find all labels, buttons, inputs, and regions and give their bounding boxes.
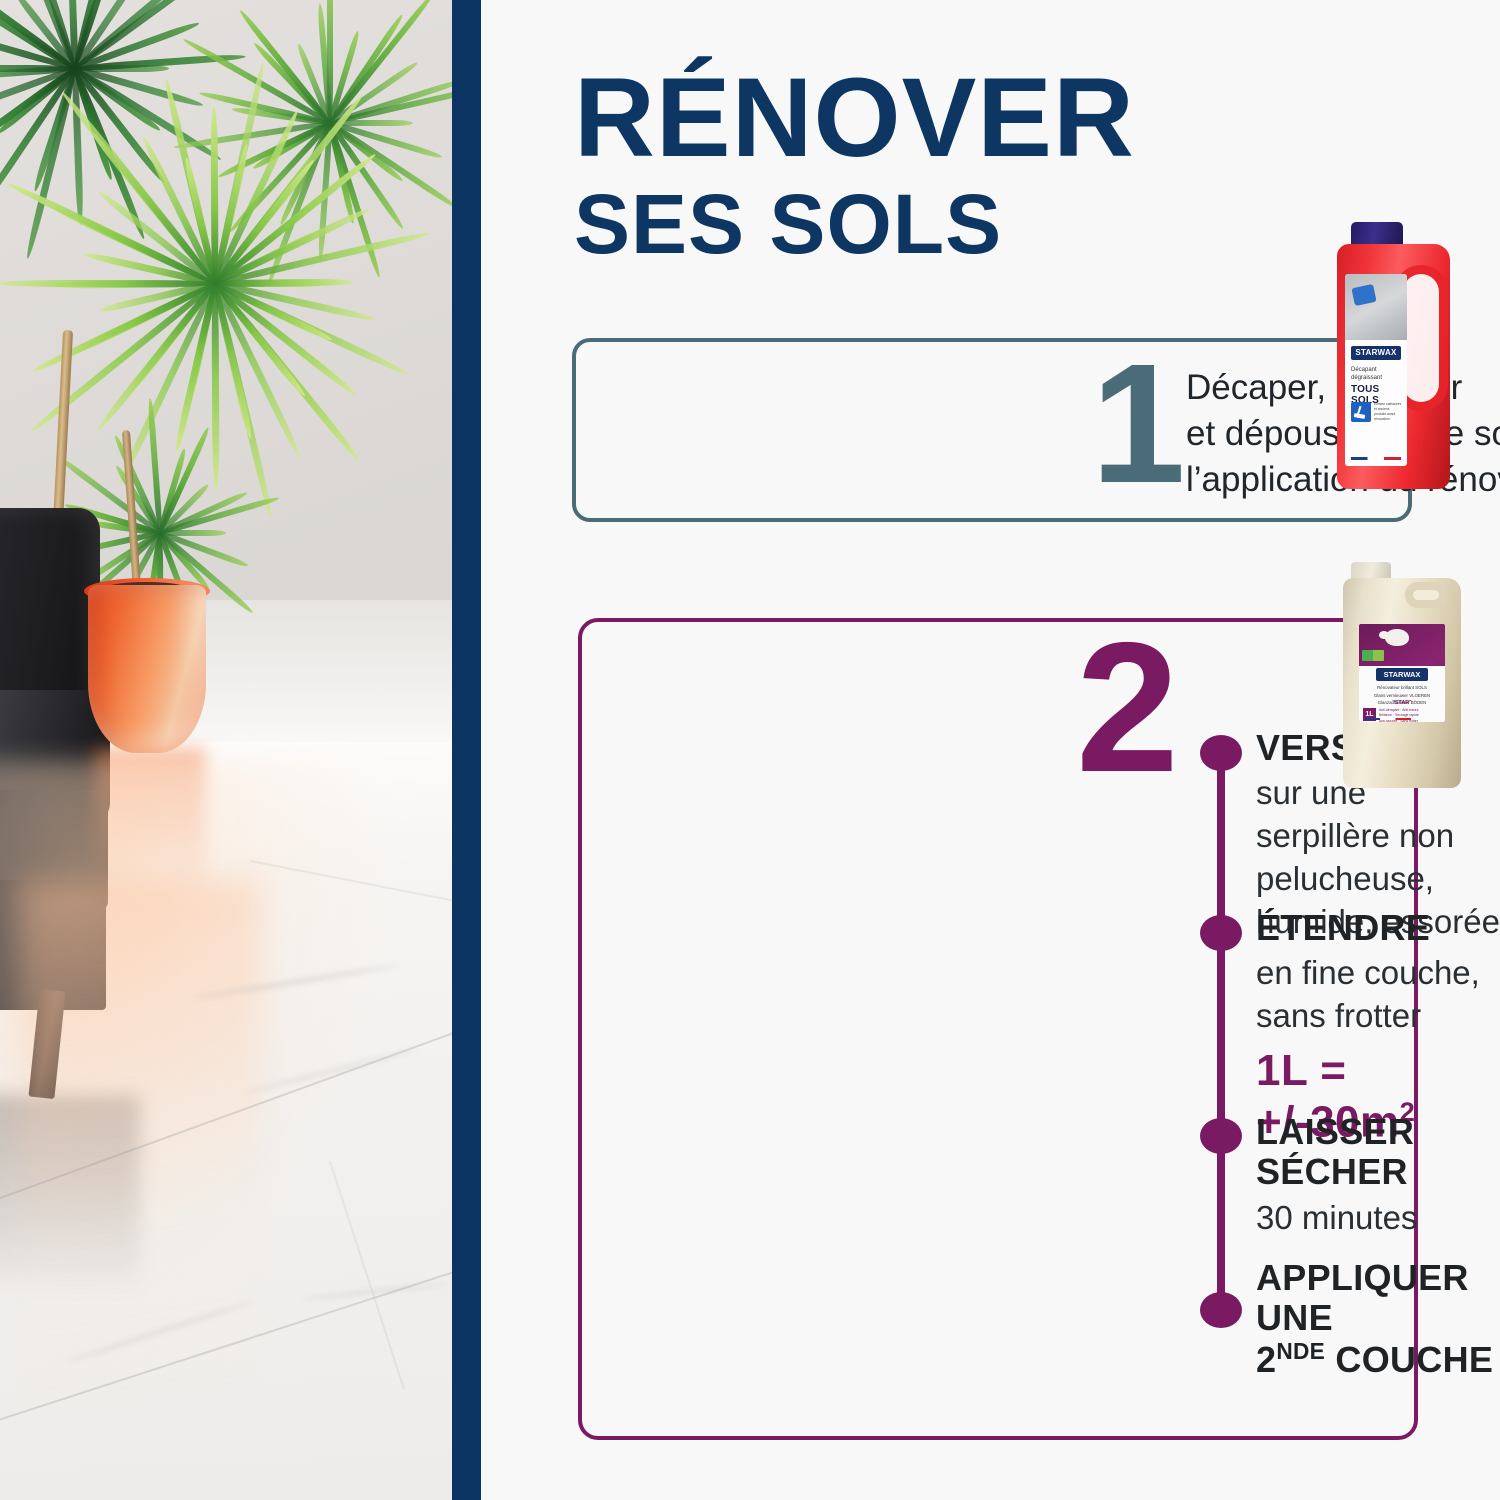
step-1-number: 1 bbox=[1091, 358, 1151, 503]
interior-photo bbox=[0, 0, 452, 1500]
timeline-dot-laisser-secher bbox=[1200, 1118, 1242, 1154]
product-bottle-renovateur: STARWAX Rénovateur brillant SOLS Glans v… bbox=[1343, 562, 1461, 788]
product-bottle-decapant: STARWAX Décapantdégraissant TOUS SOLS Él… bbox=[1333, 222, 1455, 489]
timeline-dot-appliquer bbox=[1200, 1292, 1242, 1328]
product-range-star: "STAR" bbox=[1365, 700, 1439, 706]
terracotta-flower-pot bbox=[88, 585, 206, 753]
label-white-area: STARWAX Rénovateur brillant SOLS Glans v… bbox=[1359, 666, 1445, 722]
product-descriptor: Décapantdégraissant bbox=[1351, 366, 1382, 382]
timeline-line bbox=[1217, 752, 1225, 1310]
second-coat-ordinal-suffix: NDE bbox=[1276, 1338, 1325, 1364]
step-item-appliquer-heading-line2: 2NDE COUCHE bbox=[1256, 1339, 1500, 1380]
step-item-appliquer: APPLIQUER UNE 2NDE COUCHE bbox=[1256, 1258, 1500, 1380]
second-coat-number: 2 bbox=[1256, 1339, 1276, 1380]
title-line-1: RÉNOVER bbox=[574, 62, 1135, 174]
mop-icon bbox=[1351, 284, 1376, 306]
polar-bear-icon bbox=[1385, 629, 1409, 646]
product-descriptor-line1: Décapant bbox=[1351, 367, 1377, 373]
mop-pictogram-icon bbox=[1351, 402, 1371, 422]
page-title: RÉNOVER SES SOLS bbox=[574, 62, 1135, 268]
plant-leaf bbox=[5, 180, 216, 287]
timeline-dot-verser bbox=[1200, 735, 1242, 771]
bottle-handle bbox=[1403, 274, 1439, 402]
jerrycan-label: STARWAX Rénovateur brillant SOLS Glans v… bbox=[1359, 624, 1445, 722]
plant-leaf bbox=[215, 279, 353, 287]
title-line-2: SES SOLS bbox=[574, 180, 1135, 268]
french-flag-stripe bbox=[1365, 718, 1411, 721]
step-item-laisser-secher-heading: LAISSER SÉCHER bbox=[1256, 1112, 1500, 1193]
french-flag-stripe bbox=[1351, 457, 1401, 460]
eco-badge-icon bbox=[1362, 650, 1384, 661]
floor-light-sheen-secondary bbox=[20, 880, 260, 1500]
step-item-etendre-sub: en fine couche, sans frotter bbox=[1256, 952, 1500, 1038]
jerrycan-handle bbox=[1405, 582, 1447, 608]
second-coat-word: COUCHE bbox=[1325, 1339, 1493, 1380]
step-2-number: 2 bbox=[1076, 630, 1179, 787]
product-name-fr: Rénovateur brillant SOLS bbox=[1377, 685, 1427, 690]
label-floor-photo bbox=[1345, 274, 1407, 340]
step-item-appliquer-heading-line1: APPLIQUER UNE bbox=[1256, 1258, 1500, 1339]
step-item-laisser-secher-sub: 30 minutes bbox=[1256, 1197, 1500, 1240]
brand-logo: STARWAX bbox=[1376, 668, 1428, 681]
step-item-etendre-heading: ÉTENDRE bbox=[1256, 908, 1500, 948]
navy-vertical-divider bbox=[452, 0, 481, 1500]
timeline-dot-etendre bbox=[1200, 915, 1242, 951]
bottle-label: STARWAX Décapantdégraissant TOUS SOLS Él… bbox=[1345, 274, 1407, 466]
plant-leaf bbox=[0, 280, 215, 287]
product-claim: Élimine salissures et anciens produits a… bbox=[1374, 402, 1402, 422]
product-descriptor-line2: dégraissant bbox=[1351, 375, 1382, 381]
product-name-nl: Glans vernieuwer VLOEREN bbox=[1374, 693, 1430, 698]
brand-logo: STARWAX bbox=[1351, 346, 1401, 360]
step-item-laisser-secher: LAISSER SÉCHER 30 minutes bbox=[1256, 1112, 1500, 1240]
